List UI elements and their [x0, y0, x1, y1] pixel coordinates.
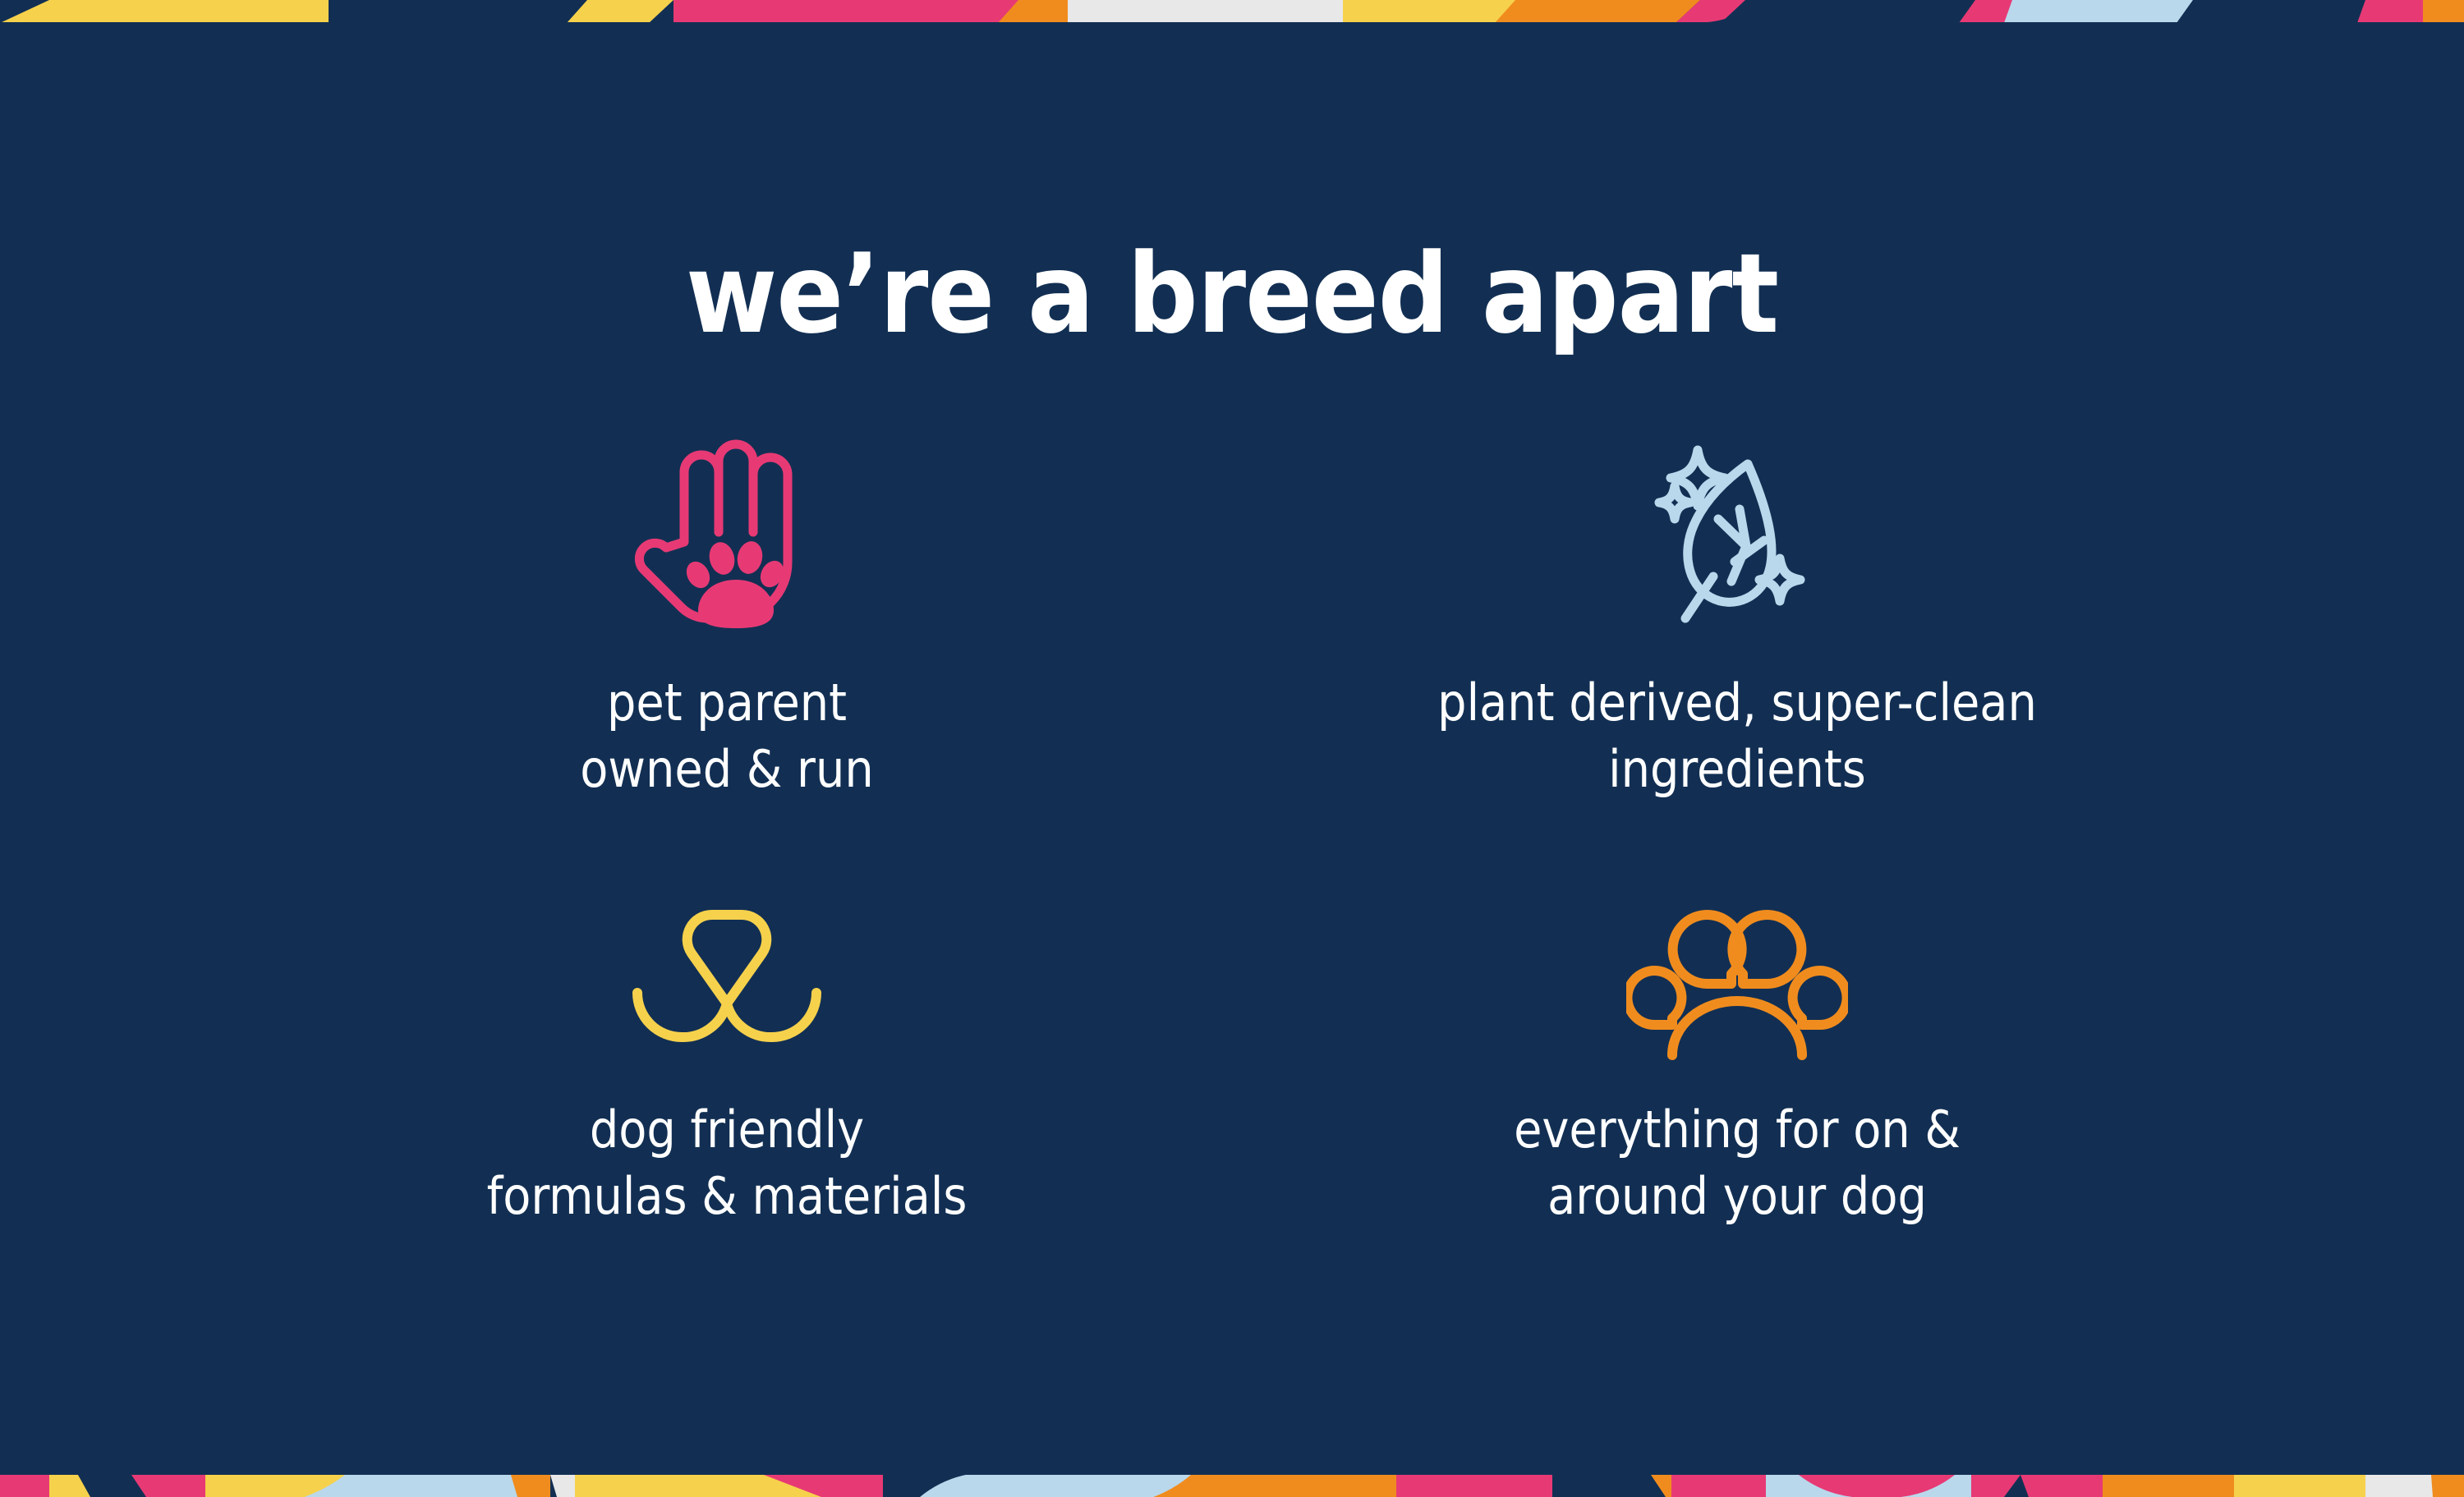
top-pattern-strip	[0, 0, 2464, 26]
feature-caption: everything for on & around your dog	[1514, 1097, 1961, 1229]
feature-everything-for-your-dog: everything for on & around your dog	[1257, 895, 2218, 1330]
sparkling-leaf-icon	[1643, 411, 1832, 649]
slide-canvas: we’re a breed apart	[0, 0, 2464, 1497]
bottom-pattern-strip	[0, 1470, 2464, 1497]
caption-line-2: formulas & materials	[487, 1164, 968, 1230]
paw-print-icon	[1626, 895, 1848, 1076]
caption-line-2: ingredients	[1437, 737, 2037, 803]
caption-line-2: owned & run	[580, 737, 873, 803]
feature-plant-derived-ingredients: plant derived, super-clean ingredients	[1257, 411, 2218, 846]
caption-line-1: plant derived, super-clean	[1437, 670, 2037, 737]
feature-grid: pet parent owned & run	[246, 411, 2218, 1330]
dog-snout-icon	[624, 895, 830, 1076]
feature-dog-friendly-formulas: dog friendly formulas & materials	[246, 895, 1207, 1330]
feature-caption: plant derived, super-clean ingredients	[1437, 670, 2037, 802]
caption-line-1: everything for on &	[1514, 1097, 1961, 1164]
page-title: we’re a breed apart	[0, 235, 2464, 354]
feature-pet-parent-owned: pet parent owned & run	[246, 411, 1207, 846]
feature-caption: pet parent owned & run	[580, 670, 873, 802]
feature-caption: dog friendly formulas & materials	[487, 1097, 968, 1229]
caption-line-1: pet parent	[580, 670, 873, 737]
hand-with-paw-icon	[632, 411, 821, 649]
caption-line-1: dog friendly	[487, 1097, 968, 1164]
caption-line-2: around your dog	[1514, 1164, 1961, 1230]
